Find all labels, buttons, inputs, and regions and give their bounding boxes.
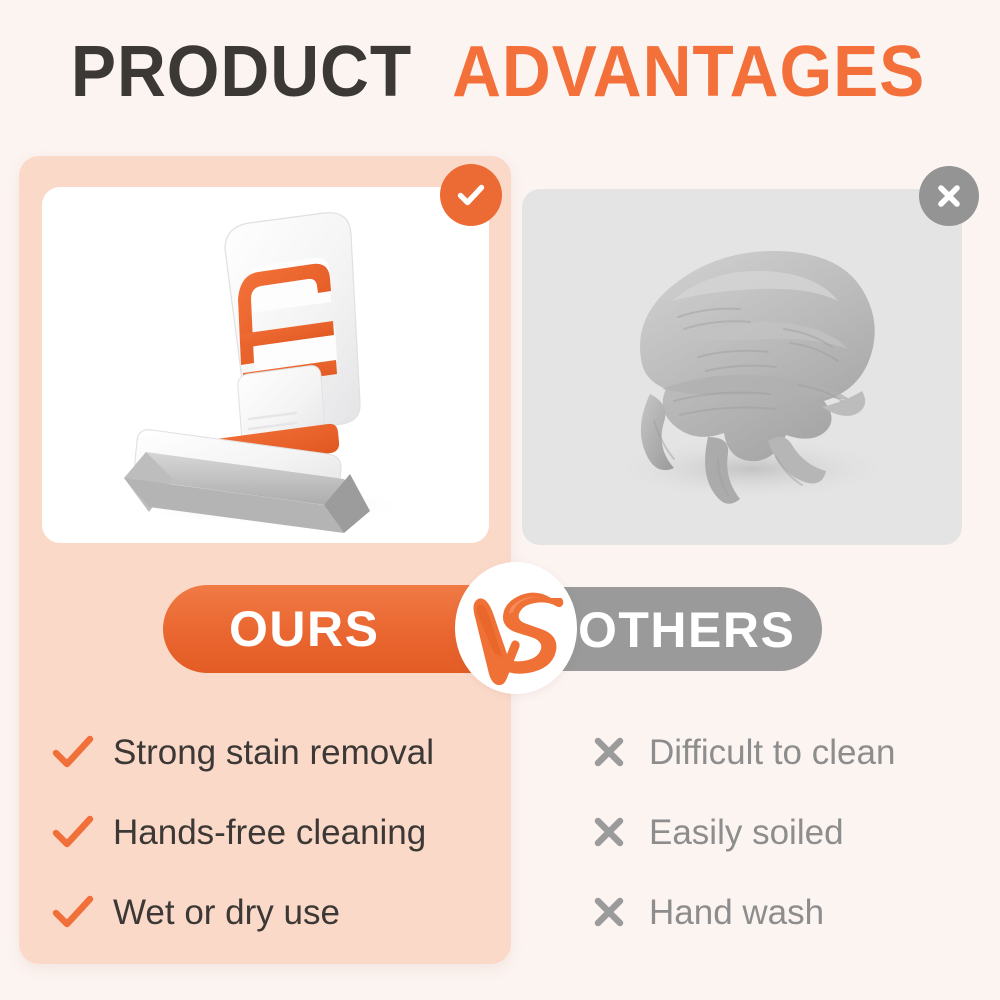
- list-item-label: Hands-free cleaning: [113, 815, 426, 850]
- list-item: Hand wash: [593, 872, 973, 952]
- page-title-part-2: ADVANTAGES: [452, 36, 925, 108]
- list-item: Hands-free cleaning: [52, 792, 492, 872]
- list-item-label: Easily soiled: [649, 815, 844, 850]
- list-item: Wet or dry use: [52, 872, 492, 952]
- others-feature-list: Difficult to clean Easily soiled Hand wa…: [593, 712, 973, 952]
- list-item-label: Hand wash: [649, 895, 824, 930]
- list-item: Difficult to clean: [593, 712, 973, 792]
- check-icon: [52, 815, 98, 849]
- list-item-label: Difficult to clean: [649, 735, 895, 770]
- vs-icon: [455, 562, 577, 694]
- page-title: PRODUCTADVANTAGES: [0, 36, 1000, 108]
- page-title-part-1: PRODUCT: [71, 36, 412, 108]
- ours-pill-label: OURS: [229, 604, 379, 654]
- others-product-image: [522, 189, 962, 545]
- list-item: Strong stain removal: [52, 712, 492, 792]
- others-pill-label: OTHERS: [578, 605, 795, 655]
- check-icon: [52, 735, 98, 769]
- check-circle-icon: [440, 164, 502, 226]
- list-item-label: Strong stain removal: [113, 735, 434, 770]
- cross-circle-icon: [919, 166, 979, 226]
- check-icon: [52, 895, 98, 929]
- cross-icon: [593, 816, 639, 848]
- list-item-label: Wet or dry use: [113, 895, 340, 930]
- ours-feature-list: Strong stain removal Hands-free cleaning…: [52, 712, 492, 952]
- cross-icon: [593, 736, 639, 768]
- list-item: Easily soiled: [593, 792, 973, 872]
- ours-product-image: [42, 187, 489, 543]
- cross-icon: [593, 896, 639, 928]
